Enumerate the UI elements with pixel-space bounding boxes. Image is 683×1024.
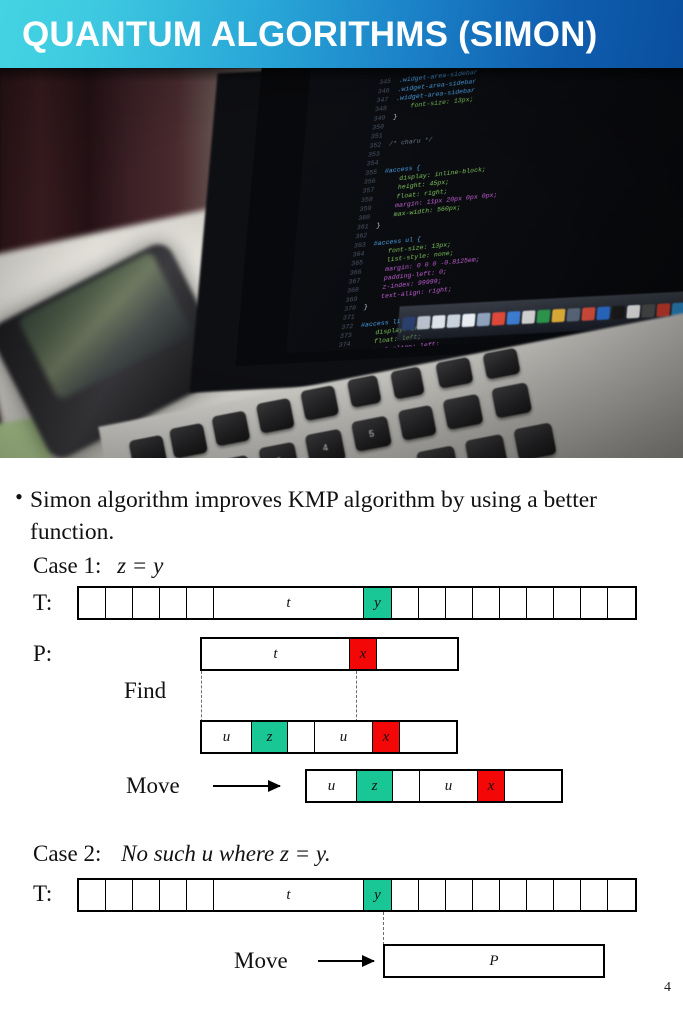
cell-label: y <box>374 595 381 612</box>
cell-label: u <box>445 778 453 795</box>
cell-case1_T-9 <box>446 588 473 618</box>
cell-case1_T-6: y <box>364 588 392 618</box>
cell-case2_T-8 <box>419 880 446 910</box>
slide-body: • Simon algorithm improves KMP algorithm… <box>0 458 683 1024</box>
cell-case1_move-1: z <box>357 771 393 801</box>
slide-title-banner: QUANTUM ALGORITHMS (SIMON) <box>0 0 683 68</box>
cell-label: x <box>383 729 390 746</box>
dashed-guide-right <box>356 671 357 722</box>
cell-case1_find-2 <box>288 722 315 752</box>
cell-case1_T-15 <box>608 588 635 618</box>
cell-label: t <box>273 646 277 663</box>
move-string-P-case2: P <box>383 944 605 978</box>
cell-case2_T-9 <box>446 880 473 910</box>
header-photo: 345 .widget-area-sidebar346 .widget-area… <box>0 68 683 458</box>
cell-case1_T-2 <box>133 588 160 618</box>
cell-case2_T-6: y <box>364 880 392 910</box>
cell-case2_T-4 <box>187 880 214 910</box>
cell-label: u <box>223 729 231 746</box>
cell-case2_T-2 <box>133 880 160 910</box>
cell-case2_T-13 <box>554 880 581 910</box>
slide: QUANTUM ALGORITHMS (SIMON) 345 .widget-a… <box>0 0 683 1024</box>
cell-case1_find-3: u <box>315 722 373 752</box>
cell-label: u <box>340 729 348 746</box>
cell-label: x <box>360 646 367 663</box>
cell-case2_T-5: t <box>214 880 364 910</box>
cell-case2_T-3 <box>160 880 187 910</box>
cell-case1_move-3: u <box>420 771 478 801</box>
photo-vignette <box>0 68 683 458</box>
cell-case1_P-1: x <box>350 639 377 669</box>
cell-case1_P-2 <box>377 639 457 669</box>
dashed-guide-left <box>201 671 202 722</box>
label-T-case1: T: <box>33 590 52 616</box>
cell-label: z <box>372 778 378 795</box>
pattern-string-P-case1: tx <box>200 637 459 671</box>
page-title: QUANTUM ALGORITHMS (SIMON) <box>22 17 598 52</box>
cell-case1_T-13 <box>554 588 581 618</box>
cell-label: u <box>328 778 336 795</box>
cell-case2_T-15 <box>608 880 635 910</box>
page-number: 4 <box>664 980 671 996</box>
cell-case2_T-0 <box>79 880 106 910</box>
label-find: Find <box>124 678 166 704</box>
cell-case1_P-0: t <box>202 639 350 669</box>
text-string-T-case1: ty <box>77 586 637 620</box>
label-move-case2: Move <box>234 948 288 974</box>
case-1-label: Case 1: <box>33 553 101 578</box>
case-1-heading: Case 1: z = y <box>33 553 163 579</box>
cell-case2_T-10 <box>473 880 500 910</box>
cell-case1_T-7 <box>392 588 419 618</box>
cell-case1_move-4: x <box>478 771 505 801</box>
cell-label: x <box>488 778 495 795</box>
bullet-item: • Simon algorithm improves KMP algorithm… <box>8 484 668 548</box>
case-2-label: Case 2: <box>33 841 101 866</box>
cell-case2_move-0: P <box>385 946 603 976</box>
cell-case1_T-5: t <box>214 588 364 618</box>
arrow-move-case1 <box>213 785 280 787</box>
cell-case1_T-4 <box>187 588 214 618</box>
cell-case1_move-0: u <box>307 771 357 801</box>
cell-label: P <box>489 953 498 970</box>
bullet-marker-icon: • <box>8 484 30 548</box>
cell-case1_T-3 <box>160 588 187 618</box>
cell-case2_T-14 <box>581 880 608 910</box>
find-string-case1: uzux <box>200 720 458 754</box>
move-string-case1: uzux <box>305 769 563 803</box>
label-T-case2: T: <box>33 881 52 907</box>
cell-case1_T-14 <box>581 588 608 618</box>
label-P-case1: P: <box>33 641 52 667</box>
cell-case2_T-1 <box>106 880 133 910</box>
cell-label: t <box>286 887 290 904</box>
cell-label: y <box>374 887 381 904</box>
cell-case1_T-10 <box>473 588 500 618</box>
label-move-case1: Move <box>126 773 180 799</box>
cell-case1_T-12 <box>527 588 554 618</box>
cell-case1_find-5 <box>400 722 456 752</box>
cell-case2_T-12 <box>527 880 554 910</box>
cell-case1_find-1: z <box>252 722 288 752</box>
text-string-T-case2: ty <box>77 878 637 912</box>
cell-case1_find-0: u <box>202 722 252 752</box>
cell-label: t <box>286 595 290 612</box>
cell-label: z <box>267 729 273 746</box>
cell-case1_T-0 <box>79 588 106 618</box>
cell-case1_move-2 <box>393 771 420 801</box>
case-1-statement: z = y <box>117 553 163 578</box>
case-2-statement: No such u where z = y. <box>121 841 331 866</box>
case-2-heading: Case 2: No such u where z = y. <box>33 841 331 867</box>
cell-case2_T-11 <box>500 880 527 910</box>
cell-case2_T-7 <box>392 880 419 910</box>
bullet-text: Simon algorithm improves KMP algorithm b… <box>30 484 668 548</box>
arrow-move-case2 <box>318 960 374 962</box>
cell-case1_find-4: x <box>373 722 400 752</box>
cell-case1_T-1 <box>106 588 133 618</box>
cell-case1_move-5 <box>505 771 561 801</box>
cell-case1_T-11 <box>500 588 527 618</box>
cell-case1_T-8 <box>419 588 446 618</box>
